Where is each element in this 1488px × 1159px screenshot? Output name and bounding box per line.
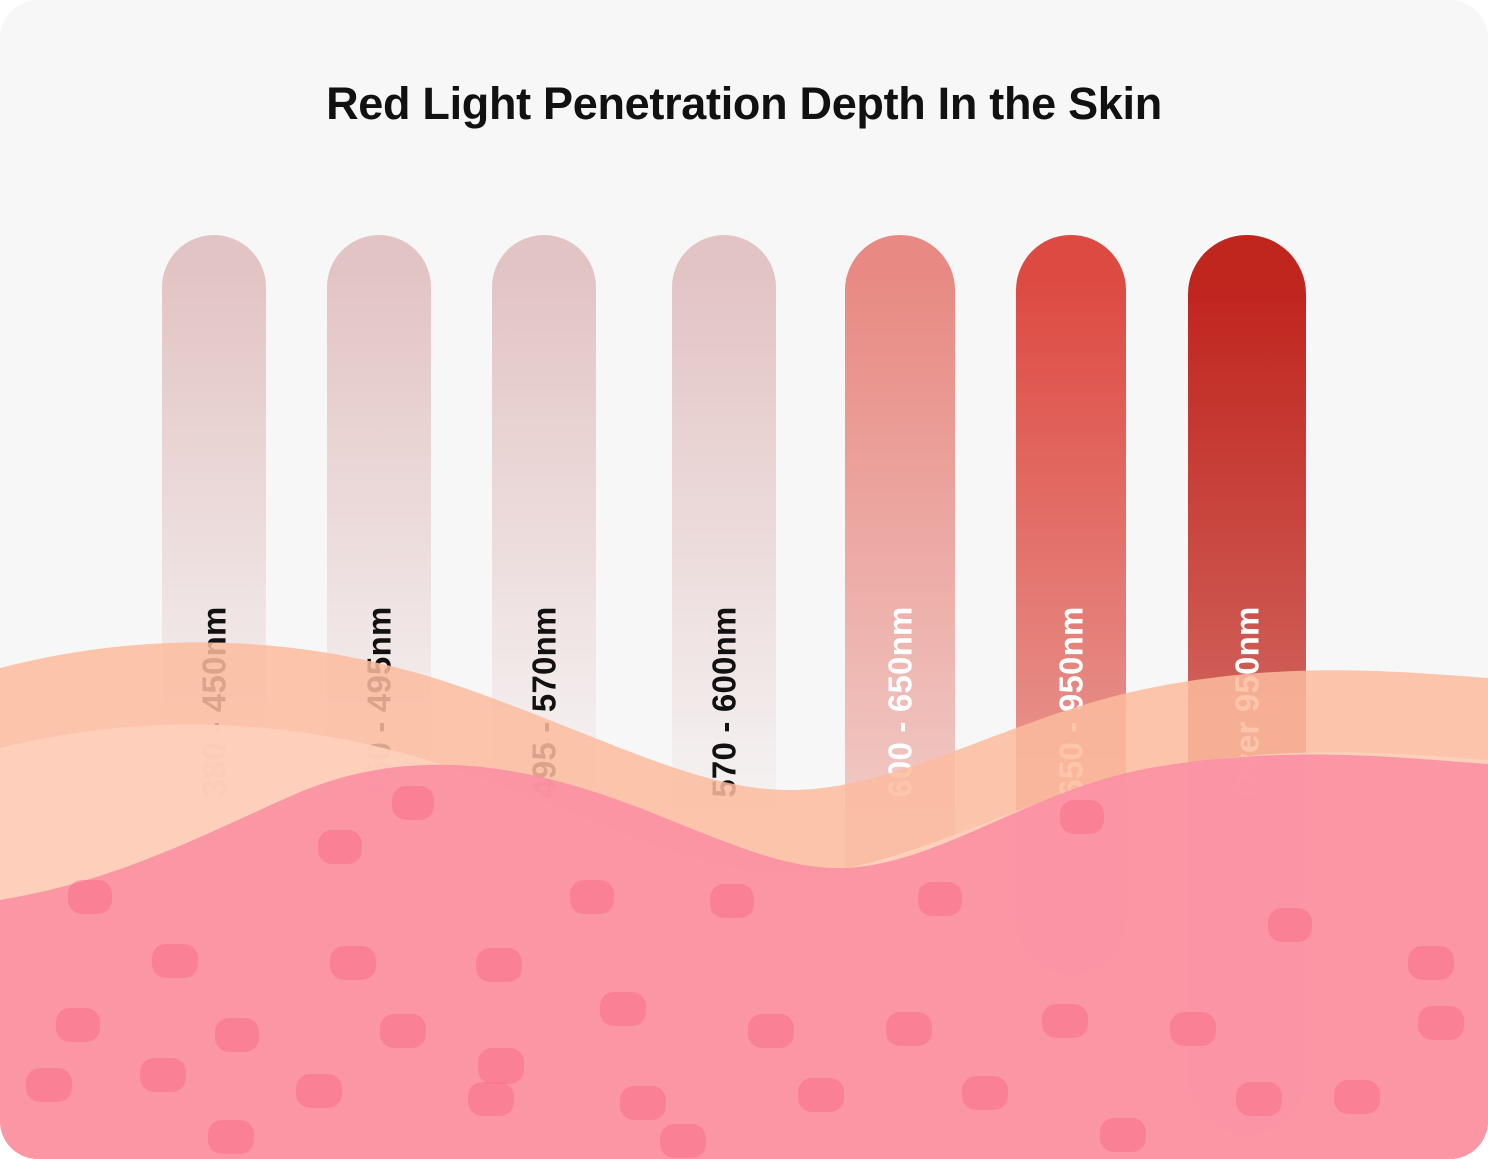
skin-cross-section: [0, 0, 1488, 1159]
infographic-canvas: Red Light Penetration Depth In the Skin …: [0, 0, 1488, 1159]
